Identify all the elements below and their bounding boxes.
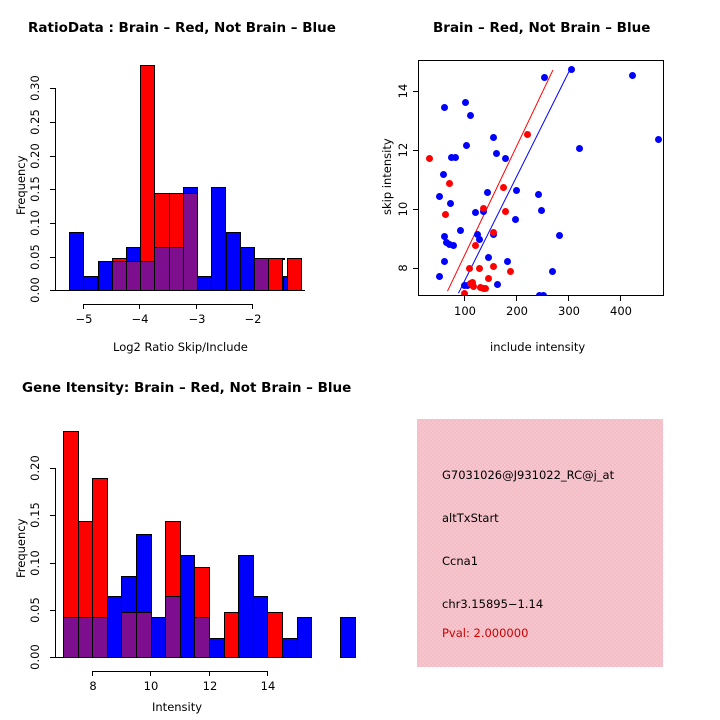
scatter-point-blue [540,292,547,297]
scatter-point-red [476,265,483,272]
scatter-point-red [500,184,507,191]
scatter-title: Brain – Red, Not Brain – Blue [433,20,650,36]
scatter-xtick-400 [620,296,621,301]
scatter-point-blue [629,72,636,79]
scatter-xtick-100 [464,296,465,301]
scatter-point-blue [467,112,474,119]
ratio-xtick-label-3: −2 [240,312,266,326]
gene-ytick-label-3: 0.15 [28,501,42,529]
bar-overlap [140,261,155,291]
bar-overlap [78,617,94,658]
bar-overlap [254,258,269,291]
bar-blue [211,187,226,291]
scatter-point-blue [457,227,464,234]
gene-xtick-label-14: 14 [255,679,281,693]
scatter-point-blue [485,254,492,261]
bar-blue [107,596,123,658]
bar-blue [98,261,113,291]
ratio-xtick-3 [252,304,253,309]
scatter-point-blue [447,200,454,207]
scatter-point-blue [568,66,575,73]
gene-ytick-4 [50,468,55,469]
bar-overlap [126,261,141,291]
ratio-ytick-label-2: 0.10 [28,209,42,237]
bar-blue-outlier [340,617,356,658]
ratio-ytick-label-1: 0.05 [28,243,42,271]
scatter-point-red [482,285,489,292]
event-type-text: altTxStart [442,511,499,525]
ratio-ytick-6 [50,88,55,89]
scatter-point-blue [549,268,556,275]
bar-red [268,258,283,291]
bar-blue [282,638,298,658]
ratio-xtick-0 [83,304,84,309]
ratio-ytick-label-3: 0.15 [28,175,42,203]
scatter-plot-area [418,60,664,296]
scatter-point-blue [441,258,448,265]
scatter-panel: Brain – Red, Not Brain – Blue skip inten… [360,0,720,360]
scatter-point-red [485,275,492,282]
bar-blue [253,596,269,658]
scatter-point-blue [655,136,662,143]
ratio-ytick-5 [50,122,55,123]
ratio-ytick-label-4: 0.20 [28,142,42,170]
scatter-point-red [502,208,509,215]
bar-overlap [154,247,169,291]
bar-overlap [63,617,79,658]
bar-overlap [136,612,152,658]
ratio-histogram-xlabel: Log2 Ratio Skip/Include [113,340,248,354]
bar-blue [69,232,84,291]
scatter-point-red [472,242,479,249]
gene-ytick-2 [50,563,55,564]
bar-red [267,612,283,658]
scatter-point-red [446,180,453,187]
scatter-point-blue [436,193,443,200]
ratio-ytick-2 [50,223,55,224]
ratio-ytick-label-5: 0.25 [28,108,42,136]
bar-red-outlier [287,258,302,291]
gene-histogram-panel: Gene Itensity: Brain – Red, Not Brain – … [0,360,360,720]
bar-blue [197,276,212,291]
scatter-point-blue [462,99,469,106]
locus-text: chr3.15895−1.14 [442,597,543,611]
gene-symbol-text: Ccna1 [442,554,478,568]
scatter-point-blue [490,134,497,141]
scatter-point-red [524,131,531,138]
scatter-point-blue [502,155,509,162]
bar-overlap [183,193,198,291]
ratio-xtick-1 [139,304,140,309]
scatter-xtick-label-300: 300 [553,304,585,318]
scatter-point-blue [493,150,500,157]
scatter-point-blue [450,242,457,249]
bar-overlap [112,261,127,291]
gene-ytick-label-4: 0.20 [28,454,42,482]
scatter-point-blue [484,189,491,196]
scatter-xtick-300 [568,296,569,301]
bar-red [283,258,285,260]
scatter-point-blue [538,207,545,214]
ratio-ytick-1 [50,257,55,258]
ratio-xtick-label-2: −3 [184,312,210,326]
bar-overlap [169,247,184,291]
bar-blue [238,555,254,658]
ratio-xtick-label-0: −5 [71,312,97,326]
ratio-ytick-label-0: 0.00 [28,276,42,304]
ratio-xtick-2 [196,304,197,309]
bar-red [140,65,155,291]
bar-blue [151,617,167,658]
gene-histogram-xaxis [92,671,267,672]
scatter-point-blue [541,74,548,81]
scatter-point-red [469,279,476,286]
scatter-xtick-200 [516,296,517,301]
scatter-point-blue [472,209,479,216]
gene-xtick-12 [209,671,210,676]
bar-overlap [92,617,108,658]
bar-overlap [121,612,137,658]
scatter-point-blue [440,171,447,178]
scatter-xtick-label-200: 200 [501,304,533,318]
gene-ytick-label-0: 0.00 [28,643,42,671]
gene-ytick-label-2: 0.10 [28,549,42,577]
scatter-point-blue [512,216,519,223]
ratio-histogram-xaxis [83,304,253,305]
bar-blue [297,617,313,658]
probe-id-text: G7031026@J931022_RC@j_at [442,468,614,482]
regression-line-blue [458,69,570,293]
scatter-point-red [461,290,468,297]
scatter-ytick-label-14: 14 [396,80,410,102]
gene-xtick-10 [150,671,151,676]
scatter-ytick-label-10: 10 [396,198,410,220]
gene-xtick-8 [92,671,93,676]
scatter-point-blue [576,145,583,152]
ratio-ytick-3 [50,189,55,190]
ratio-ytick-label-6: 0.30 [28,74,42,102]
gene-xtick-label-12: 12 [197,679,223,693]
scatter-xtick-label-100: 100 [449,304,481,318]
scatter-xtick-label-400: 400 [605,304,637,318]
scatter-point-blue [441,104,448,111]
scatter-point-blue [504,258,511,265]
gene-xtick-label-10: 10 [138,679,164,693]
scatter-point-red [490,229,497,236]
bar-blue [180,555,196,658]
bar-blue [240,247,255,291]
scatter-point-blue [463,142,470,149]
scatter-point-blue [452,154,459,161]
bar-overlap [194,617,210,658]
gene-xtick-label-8: 8 [80,679,106,693]
scatter-ytick-label-12: 12 [396,139,410,161]
scatter-ylabel: skip intensity [380,138,394,215]
scatter-point-red [426,155,433,162]
scatter-point-red [466,265,473,272]
bar-blue [83,276,98,291]
bar-red [224,612,240,658]
gene-ytick-1 [50,610,55,611]
ratio-histogram-panel: RatioData : Brain – Red, Not Brain – Blu… [0,0,360,360]
scatter-point-blue [513,187,520,194]
scatter-point-red [442,211,449,218]
scatter-xlabel: include intensity [490,340,585,354]
gene-ytick-label-1: 0.05 [28,596,42,624]
bar-blue [209,638,225,658]
gene-histogram-title: Gene Itensity: Brain – Red, Not Brain – … [22,380,351,396]
ratio-xtick-label-1: −4 [127,312,153,326]
scatter-point-red [480,205,487,212]
ratio-ytick-4 [50,156,55,157]
ratio-histogram-ylabel: Frequency [14,156,28,215]
gene-info-panel: G7031026@J931022_RC@j_at altTxStart Ccna… [417,419,663,667]
scatter-point-blue [494,281,501,288]
bar-overlap [165,596,181,658]
plot-page: RatioData : Brain – Red, Not Brain – Blu… [0,0,720,720]
gene-histogram-ylabel: Frequency [14,519,28,578]
gene-histogram-xlabel: Intensity [152,700,202,714]
scatter-ytick-label-8: 8 [396,257,410,279]
scatter-point-blue [436,273,443,280]
scatter-point-blue [535,191,542,198]
scatter-point-red [490,263,497,270]
bar-blue [226,232,241,291]
ratio-histogram-title: RatioData : Brain – Red, Not Brain – Blu… [28,20,336,36]
scatter-point-red [507,268,514,275]
gene-ytick-3 [50,515,55,516]
scatter-point-blue [556,232,563,239]
pval-text: Pval: 2.000000 [442,626,528,640]
gene-histogram-yaxis [55,468,56,658]
gene-xtick-14 [267,671,268,676]
ratio-histogram-yaxis [55,88,56,291]
